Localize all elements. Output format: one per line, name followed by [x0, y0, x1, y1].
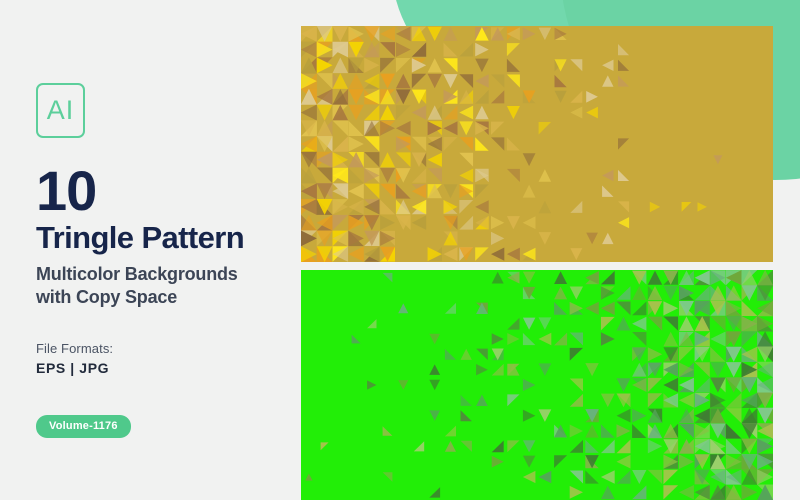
page-title: Tringle Pattern	[36, 222, 244, 253]
subtitle-line-1: Multicolor Backgrounds	[36, 263, 238, 286]
page-subtitle: Multicolor Backgrounds with Copy Space	[36, 263, 238, 309]
file-formats-label: File Formats:	[36, 341, 113, 356]
gold-pattern-canvas	[301, 26, 773, 262]
item-count: 10	[36, 163, 96, 219]
subtitle-line-2: with Copy Space	[36, 286, 238, 309]
file-formats-value: EPS | JPG	[36, 360, 109, 376]
preview-green-triangle-pattern[interactable]	[301, 270, 773, 500]
poster-canvas: AI 10 Tringle Pattern Multicolor Backgro…	[0, 0, 800, 500]
volume-badge: Volume-1176	[36, 415, 131, 438]
preview-gold-triangle-pattern[interactable]	[301, 26, 773, 262]
info-column: AI 10 Tringle Pattern Multicolor Backgro…	[36, 0, 304, 500]
ai-file-icon: AI	[36, 83, 85, 138]
ai-badge-label: AI	[47, 97, 75, 124]
green-pattern-canvas	[301, 270, 773, 500]
